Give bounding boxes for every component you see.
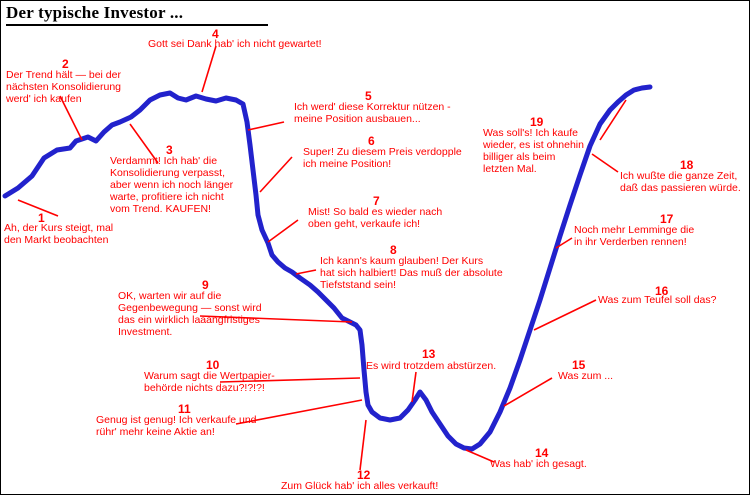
annotation-text-9: OK, warten wir auf die Gegenbewegung — s… [118, 290, 270, 338]
annotation-text-16: Was zum Teufel soll das? [598, 294, 743, 306]
annotation-text-17: Noch mehr Lemminge die in ihr Verderben … [574, 224, 734, 248]
annotation-text-5: Ich werd' diese Korrektur nützen - meine… [294, 101, 484, 125]
annotation-text-15: Was zum ... [558, 370, 658, 382]
annotation-text-4: Gott sei Dank hab' ich nicht gewartet! [148, 38, 358, 50]
annotation-text-18: Ich wußte die ganze Zeit, daß das passie… [620, 170, 750, 194]
annotation-text-2: Der Trend hält — bei der nächsten Konsol… [6, 69, 131, 105]
annotation-text-6: Super! Zu diesem Preis verdopple ich mei… [303, 146, 493, 170]
annotation-text-12: Zum Glück hab' ich alles verkauft! [281, 480, 481, 492]
annotation-text-11: Genug ist genug! Ich verkaufe und rühr' … [96, 414, 311, 438]
annotation-text-7: Mist! So bald es wieder nach oben geht, … [308, 206, 488, 230]
annotation-text-3: Verdammt! Ich hab' die Konsolidierung ve… [110, 155, 245, 215]
annotation-number-13: 13 [422, 347, 435, 361]
annotation-text-10: Warum sagt die Wertpapier- behörde nicht… [144, 370, 299, 394]
annotation-text-14: Was hab' ich gesagt. [490, 458, 610, 470]
annotation-text-8: Ich kann's kaum glauben! Der Kurs hat si… [320, 255, 535, 291]
annotation-text-1: Ah, der Kurs steigt, mal den Markt beoba… [4, 222, 124, 246]
annotation-text-19: Was soll's! Ich kaufe wieder, es ist ohn… [483, 127, 598, 175]
annotation-text-13: Es wird trotzdem abstürzen. [366, 360, 506, 372]
